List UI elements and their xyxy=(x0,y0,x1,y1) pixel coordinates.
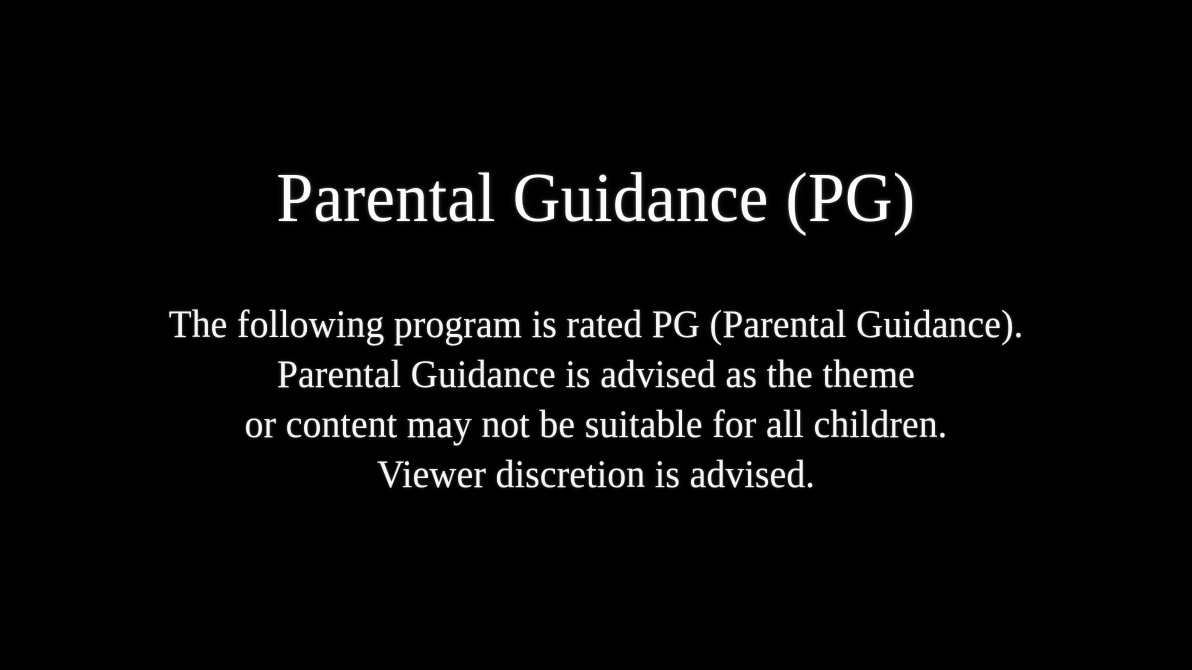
advisory-line-1: The following program is rated PG (Paren… xyxy=(24,300,1168,350)
advisory-line-2: Parental Guidance is advised as the them… xyxy=(24,350,1168,400)
rating-card-screen: Parental Guidance (PG) The following pro… xyxy=(0,0,1192,670)
page-title: Parental Guidance (PG) xyxy=(36,158,1156,240)
advisory-line-3: or content may not be suitable for all c… xyxy=(24,400,1168,450)
advisory-text-block: The following program is rated PG (Paren… xyxy=(24,300,1168,500)
advisory-line-4: Viewer discretion is advised. xyxy=(24,450,1168,500)
